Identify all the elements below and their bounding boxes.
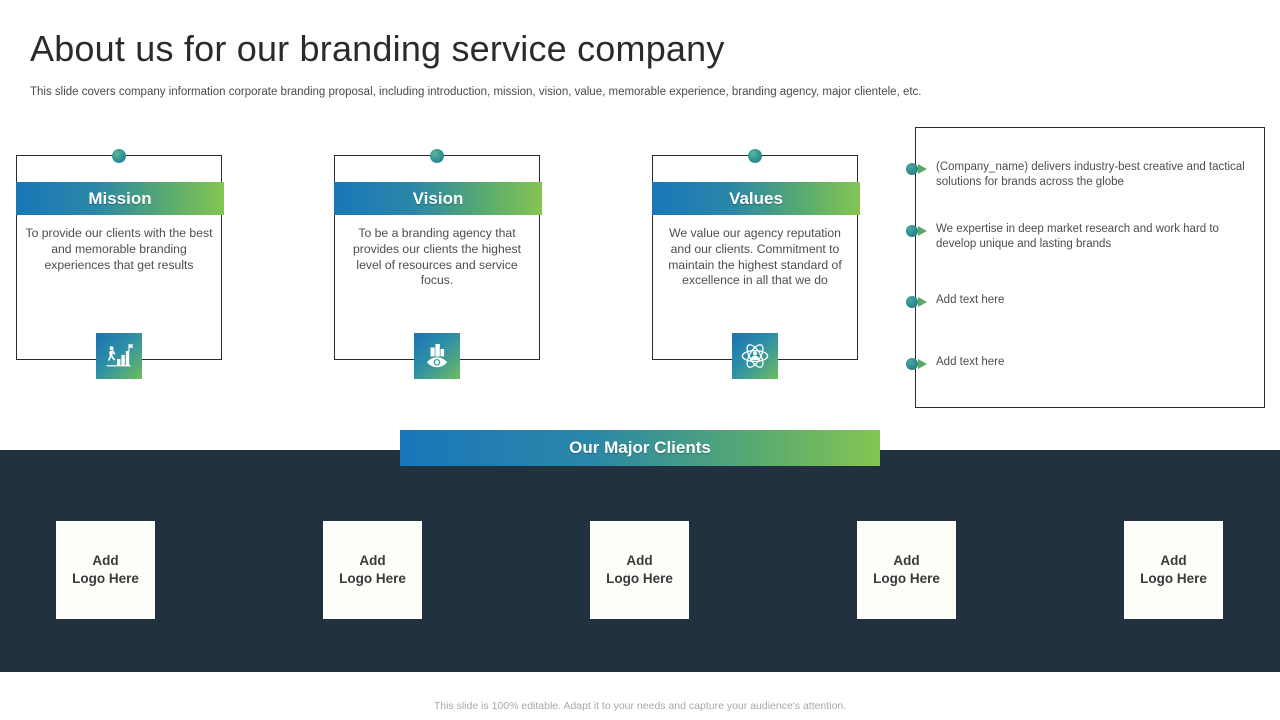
pillar-card-title: Vision: [334, 182, 542, 215]
bullet-marker-icon: [906, 224, 932, 238]
pillar-card-title: Mission: [16, 182, 224, 215]
pillar-card-vision[interactable]: Vision To be a branding agency that prov…: [334, 155, 540, 360]
clients-banner: Our Major Clients: [400, 430, 880, 466]
bullet-marker-icon: [906, 357, 932, 371]
bullet-circle-icon: [906, 358, 918, 370]
bullet-arrow-icon: [918, 164, 927, 174]
list-item[interactable]: We expertise in deep market research and…: [906, 222, 1246, 252]
page-subtitle: This slide covers company information co…: [30, 86, 922, 98]
bullet-circle-icon: [906, 296, 918, 308]
client-logo-placeholder[interactable]: AddLogo Here: [1124, 521, 1223, 619]
pillar-card-title: Values: [652, 182, 860, 215]
client-logo-placeholder[interactable]: AddLogo Here: [56, 521, 155, 619]
pillar-card-body: To provide our clients with the best and…: [25, 226, 213, 273]
pillar-card-body: To be a branding agency that provides ou…: [343, 226, 531, 289]
client-logo-placeholder[interactable]: AddLogo Here: [857, 521, 956, 619]
card-connector-dot-icon: [112, 149, 126, 163]
bullet-circle-icon: [906, 225, 918, 237]
eye-buildings-icon: [414, 333, 460, 379]
bullet-marker-icon: [906, 295, 932, 309]
bullet-arrow-icon: [918, 359, 927, 369]
list-item[interactable]: Add text here: [906, 293, 1246, 309]
bullet-arrow-icon: [918, 297, 927, 307]
growth-chart-person-flag-icon: [96, 333, 142, 379]
list-item-label: We expertise in deep market research and…: [932, 222, 1246, 252]
bullet-circle-icon: [906, 163, 918, 175]
list-item-label: (Company_name) delivers industry-best cr…: [932, 160, 1246, 190]
client-logo-placeholder[interactable]: AddLogo Here: [323, 521, 422, 619]
bullet-marker-icon: [906, 162, 932, 176]
atom-person-icon: [732, 333, 778, 379]
list-item-label: Add text here: [932, 293, 1004, 308]
client-logo-placeholder[interactable]: AddLogo Here: [590, 521, 689, 619]
bullet-arrow-icon: [918, 226, 927, 236]
card-connector-dot-icon: [748, 149, 762, 163]
pillar-card-values[interactable]: Values We value our agency reputation an…: [652, 155, 858, 360]
list-item[interactable]: Add text here: [906, 355, 1246, 371]
footer-note: This slide is 100% editable. Adapt it to…: [0, 700, 1280, 712]
list-item-label: Add text here: [932, 355, 1004, 370]
pillar-card-mission[interactable]: Mission To provide our clients with the …: [16, 155, 222, 360]
page-title: About us for our branding service compan…: [30, 28, 725, 70]
pillar-card-body: We value our agency reputation and our c…: [661, 226, 849, 289]
highlights-panel: (Company_name) delivers industry-best cr…: [915, 127, 1265, 408]
card-connector-dot-icon: [430, 149, 444, 163]
list-item[interactable]: (Company_name) delivers industry-best cr…: [906, 160, 1246, 190]
